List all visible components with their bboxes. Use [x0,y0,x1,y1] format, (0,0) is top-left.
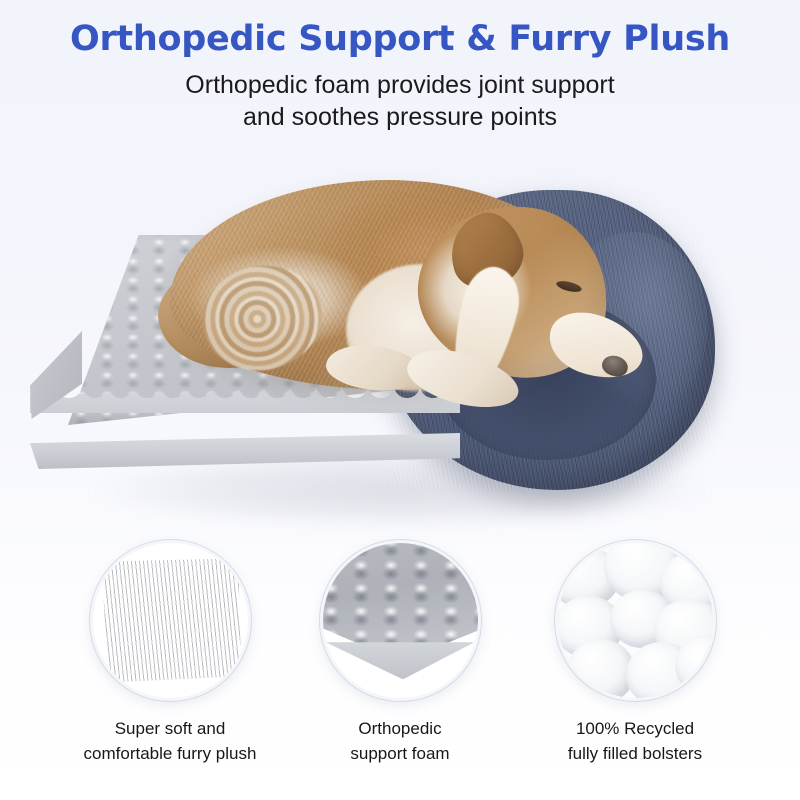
feature-item-plush: Super soft and comfortable furry plush [50,540,290,766]
caption-line-2: fully filled bolsters [515,742,755,767]
caption-line-2: support foam [280,742,520,767]
hero-product-image [0,150,800,530]
plush-fiber-texture [93,543,248,698]
sleeping-dog [150,170,670,430]
caption-line-1: Super soft and [50,717,290,742]
feature-caption-plush: Super soft and comfortable furry plush [50,717,290,766]
infographic-page: Orthopedic Support & Furry Plush Orthope… [0,0,800,800]
furry-plush-swatch-icon [90,540,251,701]
header: Orthopedic Support & Furry Plush Orthope… [0,0,800,134]
caption-line-2: comfortable furry plush [50,742,290,767]
foam-swatch-edge [326,642,475,679]
egg-crate-foam-swatch-icon [320,540,481,701]
recycled-fiber-fill-swatch-icon [555,540,716,701]
feature-item-foam: Orthopedic support foam [280,540,520,766]
page-subtitle: Orthopedic foam provides joint support a… [80,69,720,134]
feature-caption-foam: Orthopedic support foam [280,717,520,766]
feature-row: Super soft and comfortable furry plush O… [0,540,800,800]
subtitle-line-1: Orthopedic foam provides joint support [80,69,720,102]
fiber-ball [567,639,635,701]
feature-caption-fill: 100% Recycled fully filled bolsters [515,717,755,766]
caption-line-1: 100% Recycled [515,717,755,742]
fiber-fill-background [558,543,713,698]
feature-item-fill: 100% Recycled fully filled bolsters [515,540,755,766]
page-title: Orthopedic Support & Furry Plush [0,0,800,59]
subtitle-line-2: and soothes pressure points [80,101,720,134]
caption-line-1: Orthopedic [280,717,520,742]
